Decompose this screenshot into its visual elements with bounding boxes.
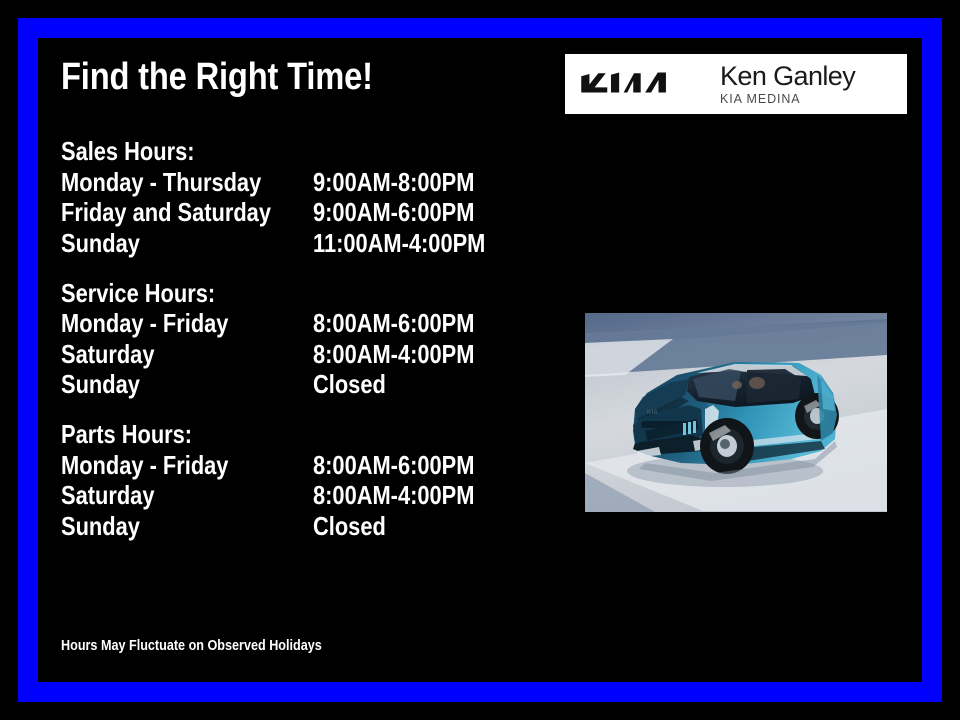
hours-day-label: Sunday <box>61 369 313 400</box>
table-row: Sunday Closed <box>61 511 531 542</box>
section-heading-parts: Parts Hours: <box>61 419 531 450</box>
hours-day-label: Friday and Saturday <box>61 197 313 228</box>
hours-day-label: Monday - Friday <box>61 308 313 339</box>
hours-time-value: 11:00AM-4:00PM <box>313 228 531 259</box>
hours-section-parts: Parts Hours: Monday - Friday 8:00AM-6:00… <box>61 419 531 541</box>
hours-section-sales: Sales Hours: Monday - Thursday 9:00AM-8:… <box>61 136 531 258</box>
hours-time-value: 9:00AM-6:00PM <box>313 197 531 228</box>
hours-time-value: 8:00AM-6:00PM <box>313 450 531 481</box>
dealer-name-block: Ken Ganley KIA MEDINA <box>720 63 855 106</box>
section-heading-service: Service Hours: <box>61 278 531 309</box>
table-row: Monday - Thursday 9:00AM-8:00PM <box>61 167 531 198</box>
hours-time-value: 8:00AM-4:00PM <box>313 339 531 370</box>
hours-day-label: Saturday <box>61 480 313 511</box>
hours-time-value: Closed <box>313 369 531 400</box>
vehicle-photo: KIA <box>585 313 887 512</box>
dealer-name: Ken Ganley <box>720 63 855 90</box>
hours-time-value: 8:00AM-4:00PM <box>313 480 531 511</box>
kia-logo-mark <box>578 71 690 97</box>
table-row: Saturday 8:00AM-4:00PM <box>61 480 531 511</box>
section-heading-sales: Sales Hours: <box>61 136 531 167</box>
hours-time-value: Closed <box>313 511 531 542</box>
svg-text:KIA: KIA <box>647 410 658 416</box>
holiday-disclaimer: Hours May Fluctuate on Observed Holidays <box>61 637 322 655</box>
table-row: Monday - Friday 8:00AM-6:00PM <box>61 308 531 339</box>
table-row: Saturday 8:00AM-4:00PM <box>61 339 531 370</box>
hours-list: Sales Hours: Monday - Thursday 9:00AM-8:… <box>61 136 531 541</box>
hours-section-service: Service Hours: Monday - Friday 8:00AM-6:… <box>61 278 531 400</box>
hours-day-label: Sunday <box>61 228 313 259</box>
dealer-logo-plate: Ken Ganley KIA MEDINA <box>565 54 907 114</box>
hours-time-value: 8:00AM-6:00PM <box>313 308 531 339</box>
table-row: Friday and Saturday 9:00AM-6:00PM <box>61 197 531 228</box>
dealer-location-label: KIA MEDINA <box>720 92 855 106</box>
table-row: Sunday Closed <box>61 369 531 400</box>
table-row: Monday - Friday 8:00AM-6:00PM <box>61 450 531 481</box>
hours-day-label: Sunday <box>61 511 313 542</box>
dealership-hours-slide: Find the Right Time! Sales Hours: Monday… <box>0 0 960 720</box>
hours-day-label: Monday - Friday <box>61 450 313 481</box>
hours-time-value: 9:00AM-8:00PM <box>313 167 531 198</box>
page-title: Find the Right Time! <box>61 56 373 98</box>
hours-day-label: Monday - Thursday <box>61 167 313 198</box>
hours-day-label: Saturday <box>61 339 313 370</box>
table-row: Sunday 11:00AM-4:00PM <box>61 228 531 259</box>
